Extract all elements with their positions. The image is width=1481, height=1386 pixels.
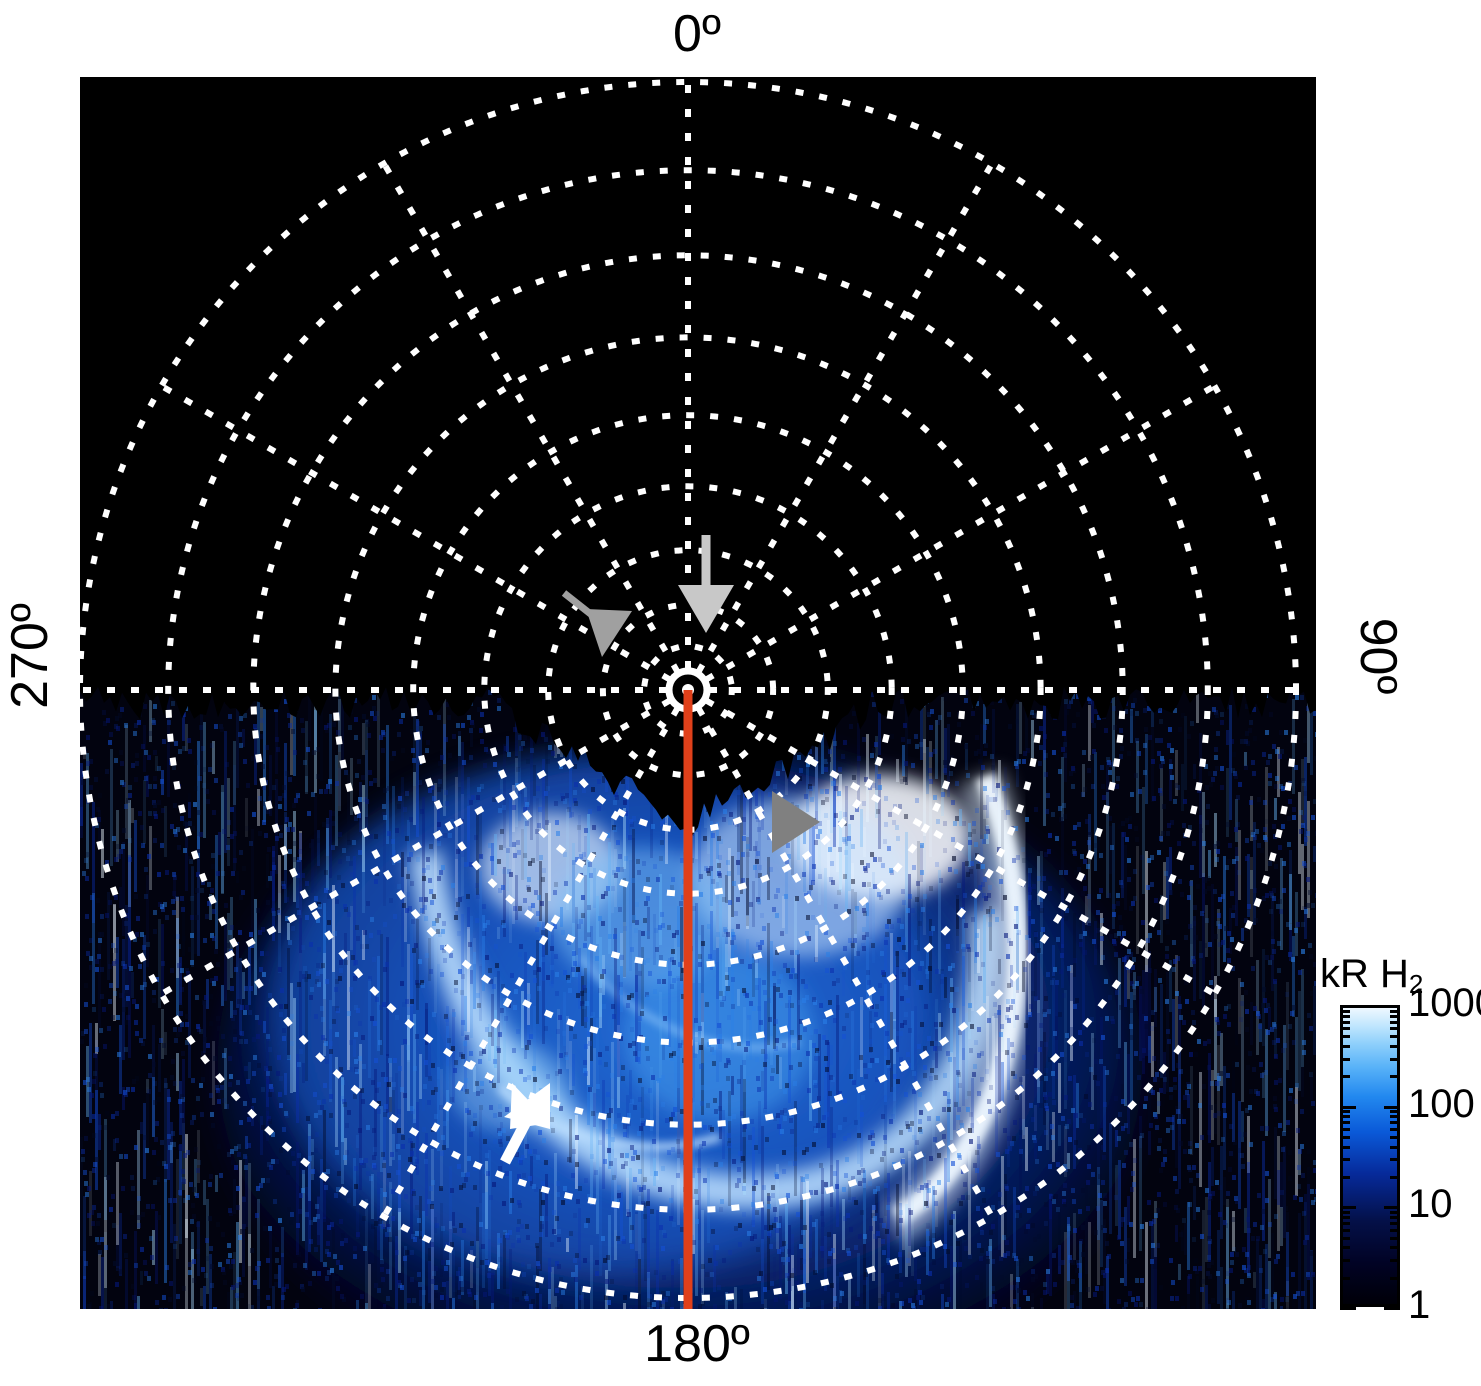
axis-label-90deg: 90º [1352, 566, 1404, 746]
axis-label-0deg: 0º [0, 8, 1394, 60]
colorbar-label-10: 10 [1408, 1184, 1453, 1224]
colorbar-label-1: 1 [1408, 1285, 1430, 1325]
colorbar-title-text: kR H [1320, 952, 1409, 996]
colorbar-ticks [1340, 1005, 1400, 1307]
colorbar-label-1000: 1000 [1408, 983, 1481, 1023]
polar-plot-svg [80, 77, 1316, 1309]
polar-plot-panel [80, 77, 1316, 1309]
axis-label-180deg: 180º [0, 1318, 1394, 1370]
annotation-arrow-gray-small [564, 593, 632, 657]
axis-label-270deg: 270º [4, 566, 56, 746]
colorbar-label-100: 100 [1408, 1084, 1475, 1124]
